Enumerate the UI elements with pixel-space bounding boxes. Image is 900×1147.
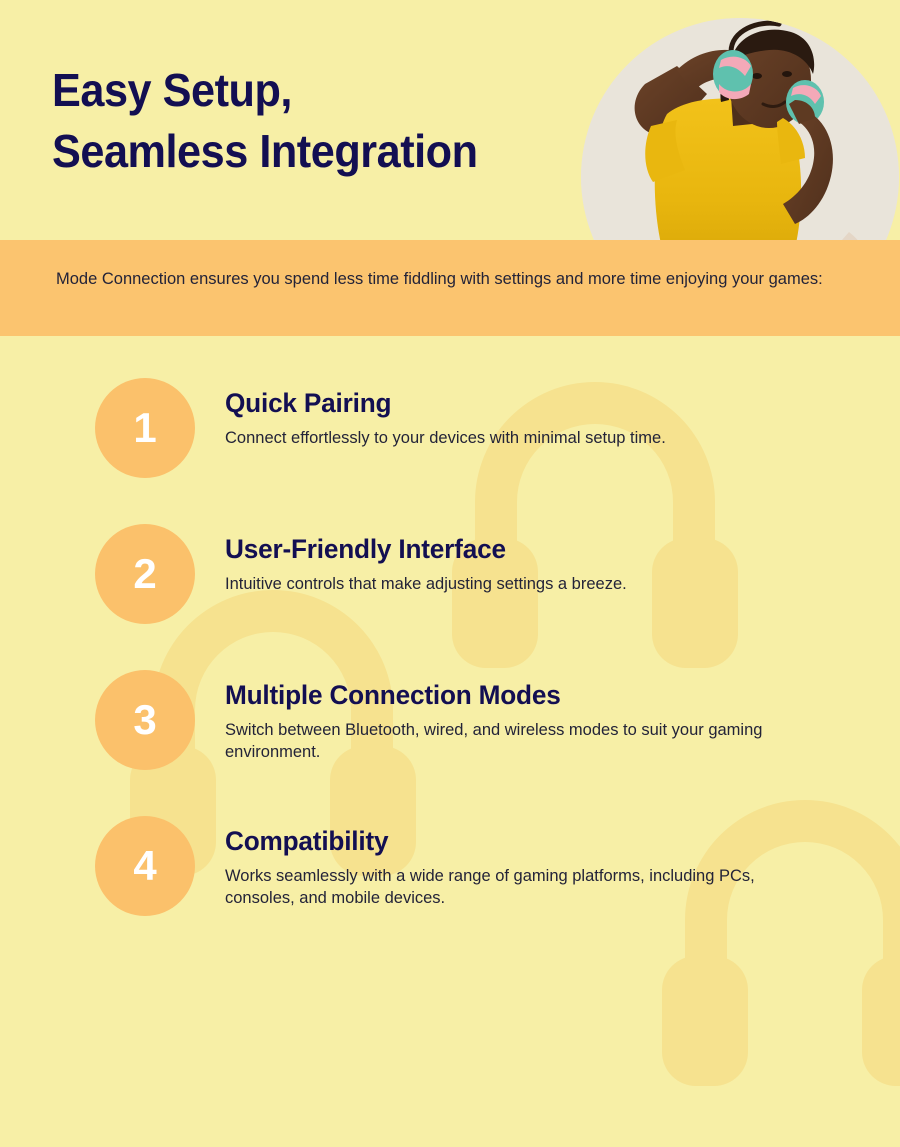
feature-description: Works seamlessly with a wide range of ga… <box>225 866 825 910</box>
page-title: Easy Setup, Seamless Integration <box>52 60 478 182</box>
feature-content: User-Friendly Interface Intuitive contro… <box>225 524 825 596</box>
feature-title: User-Friendly Interface <box>225 534 807 565</box>
feature-item: 4 Compatibility Works seamlessly with a … <box>40 816 860 916</box>
feature-title: Multiple Connection Modes <box>225 680 807 711</box>
hero-section: Easy Setup, Seamless Integration <box>0 0 900 240</box>
feature-number-badge: 1 <box>95 378 195 478</box>
feature-title: Quick Pairing <box>225 388 807 419</box>
feature-number-badge: 2 <box>95 524 195 624</box>
person-wearing-headphones-photo <box>581 18 899 240</box>
feature-content: Compatibility Works seamlessly with a wi… <box>225 816 825 910</box>
feature-description: Intuitive controls that make adjusting s… <box>225 574 825 596</box>
feature-description: Switch between Bluetooth, wired, and wir… <box>225 720 825 764</box>
feature-item: 3 Multiple Connection Modes Switch betwe… <box>40 670 860 770</box>
feature-number-badge: 4 <box>95 816 195 916</box>
feature-title: Compatibility <box>225 826 807 857</box>
feature-content: Multiple Connection Modes Switch between… <box>225 670 825 764</box>
infographic-page: Easy Setup, Seamless Integration Mode Co… <box>0 0 900 1147</box>
feature-content: Quick Pairing Connect effortlessly to yo… <box>225 378 825 450</box>
feature-item: 1 Quick Pairing Connect effortlessly to … <box>40 378 860 478</box>
intro-band: Mode Connection ensures you spend less t… <box>0 240 900 336</box>
feature-number-badge: 3 <box>95 670 195 770</box>
hero-photo-frame <box>563 0 900 240</box>
hero-photo-circle <box>581 18 899 240</box>
feature-description: Connect effortlessly to your devices wit… <box>225 428 825 450</box>
intro-text: Mode Connection ensures you spend less t… <box>56 268 844 291</box>
feature-item: 2 User-Friendly Interface Intuitive cont… <box>40 524 860 624</box>
feature-list: 1 Quick Pairing Connect effortlessly to … <box>0 336 900 916</box>
